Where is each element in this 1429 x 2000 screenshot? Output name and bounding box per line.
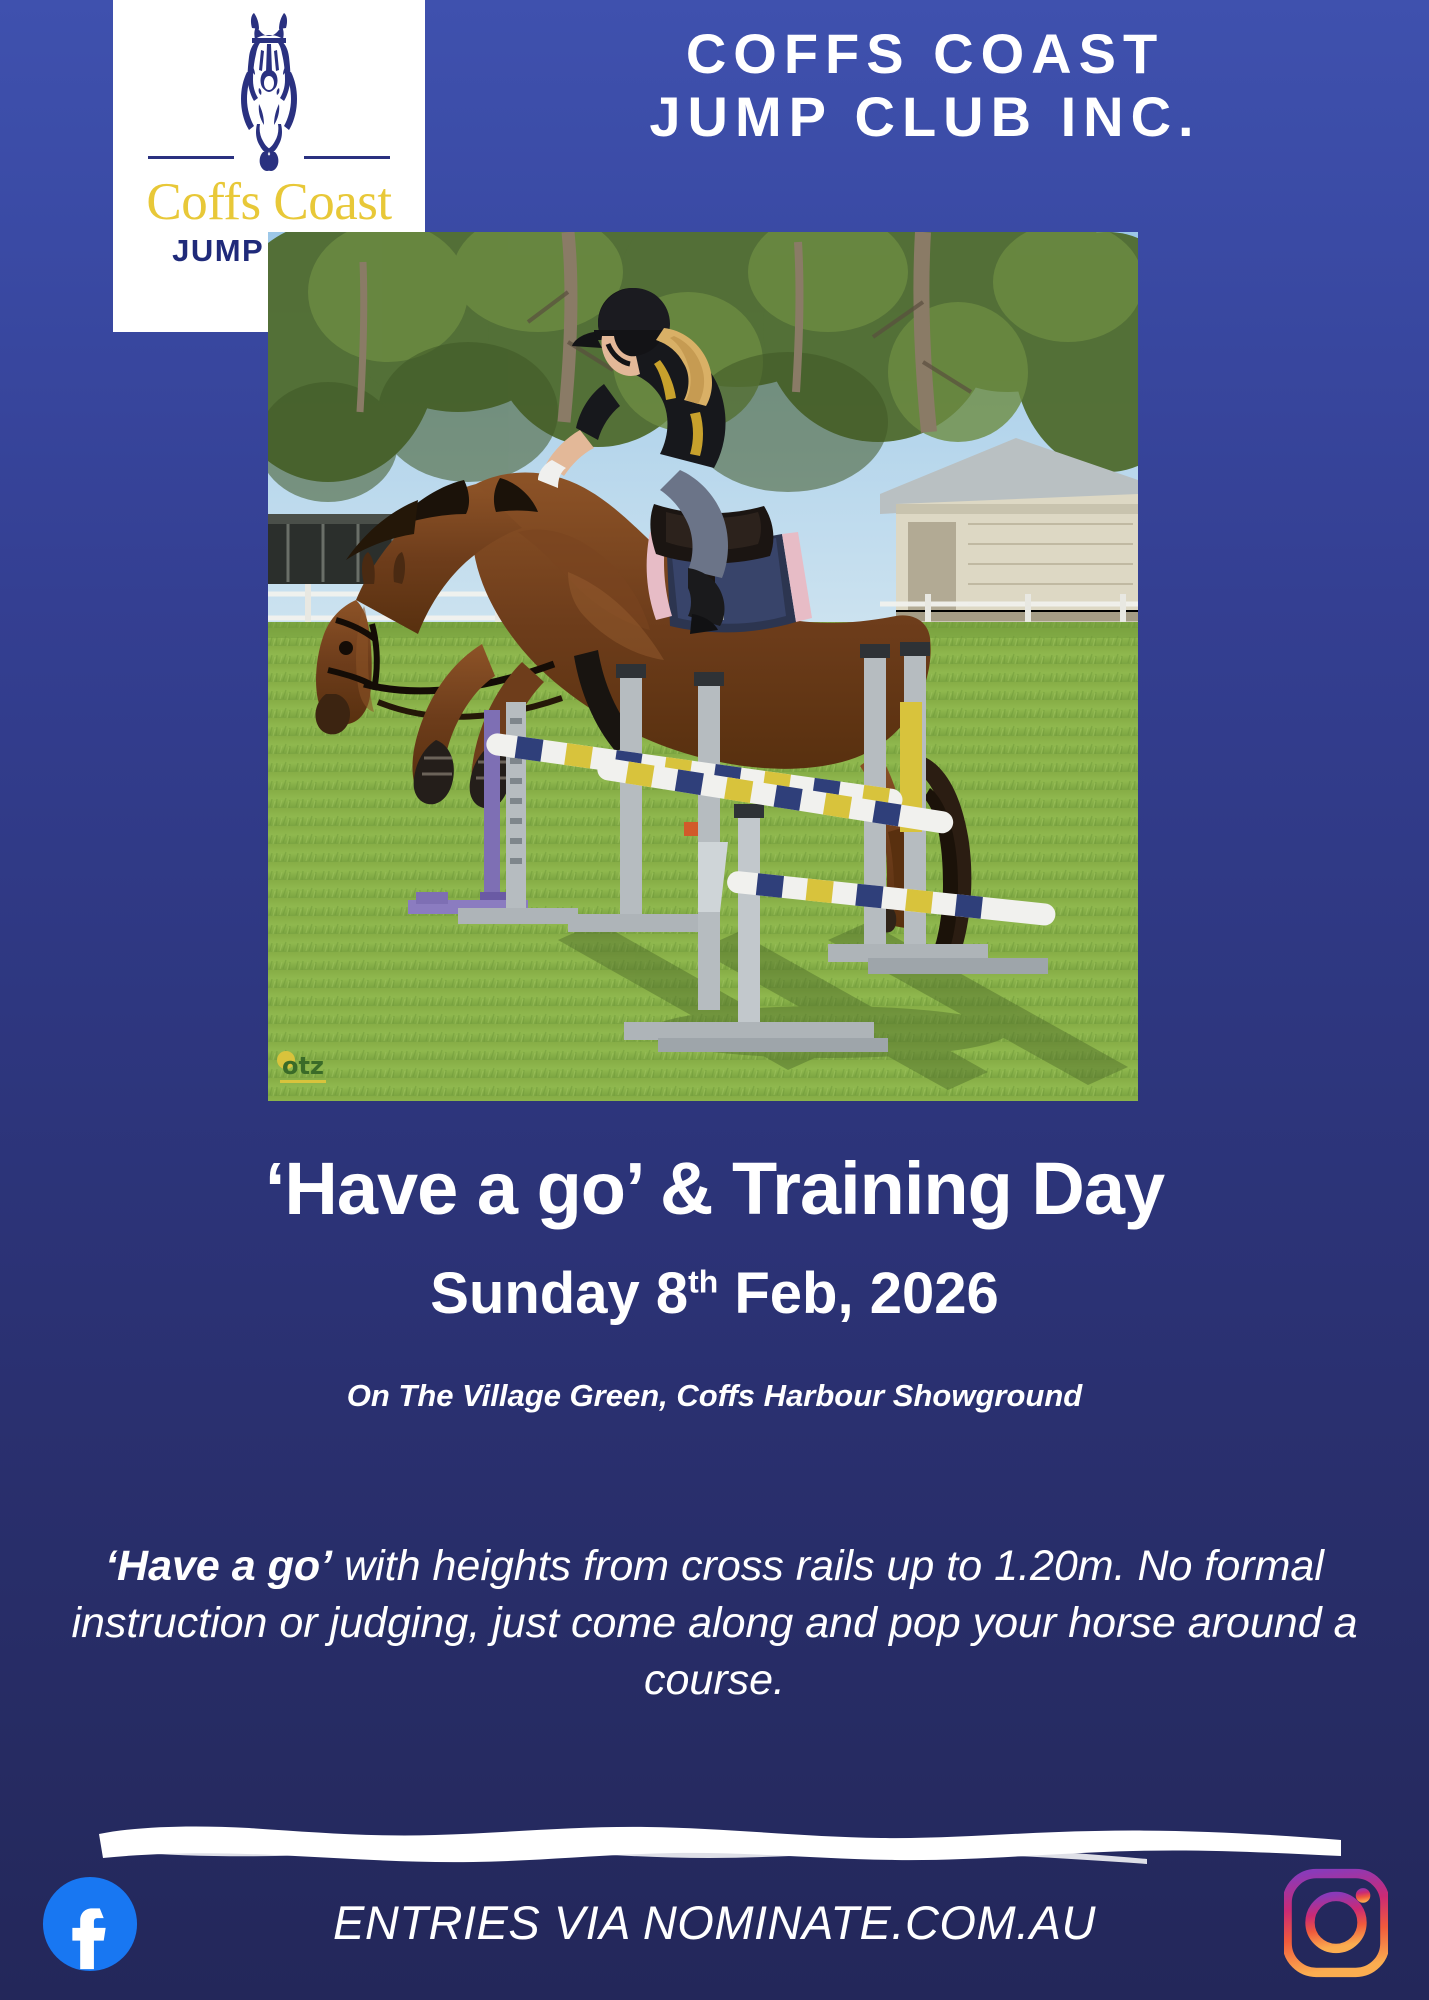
event-venue: On The Village Green, Coffs Harbour Show… xyxy=(0,1378,1429,1414)
event-date-ordinal: th xyxy=(688,1264,718,1300)
event-photo: otz xyxy=(268,232,1138,1101)
event-description-emphasis: ‘Have a go’ xyxy=(105,1542,332,1590)
event-date-prefix: Sunday 8 xyxy=(430,1261,688,1326)
brush-stroke-divider xyxy=(95,1820,1345,1868)
page-title: COFFS COAST JUMP CLUB INC. xyxy=(430,22,1420,149)
logo-primary-text: Coffs Coast xyxy=(146,175,391,229)
logo-divider-rule xyxy=(144,156,394,159)
svg-text:otz: otz xyxy=(282,1052,324,1080)
event-date-suffix: Feb, 2026 xyxy=(718,1261,998,1326)
entries-text: ENTRIES VIA NOMINATE.COM.AU xyxy=(0,1895,1429,1950)
instagram-icon[interactable] xyxy=(1284,1868,1388,1978)
event-date: Sunday 8th Feb, 2026 xyxy=(0,1265,1429,1323)
event-title: ‘Have a go’ & Training Day xyxy=(0,1152,1429,1226)
event-description: ‘Have a go’ with heights from cross rail… xyxy=(60,1538,1369,1710)
